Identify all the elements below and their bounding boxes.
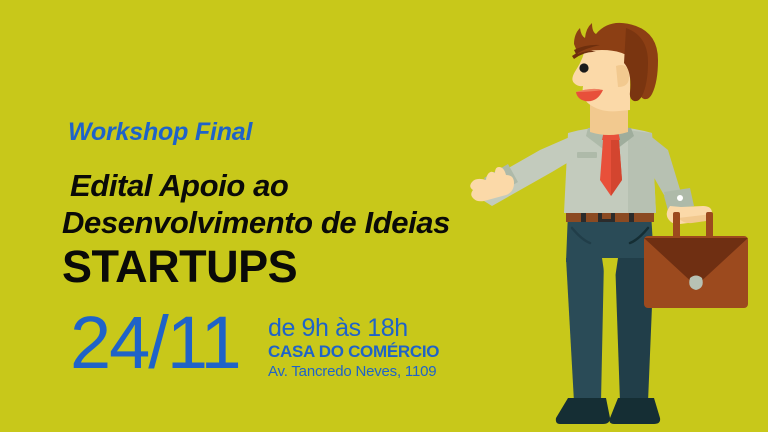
emphasis-text-startups: STARTUPS	[62, 244, 297, 289]
briefcase-hand	[664, 188, 712, 224]
jeans-group	[566, 212, 654, 402]
businessman-illustration	[468, 0, 768, 432]
kicker-text: Workshop Final	[68, 118, 252, 147]
gesturing-hand	[470, 164, 518, 201]
briefcase	[644, 212, 748, 308]
poster-canvas: Workshop Final Edital Apoio ao Desenvolv…	[0, 0, 768, 432]
shoes	[556, 398, 660, 424]
event-date: 24/11	[70, 306, 240, 380]
